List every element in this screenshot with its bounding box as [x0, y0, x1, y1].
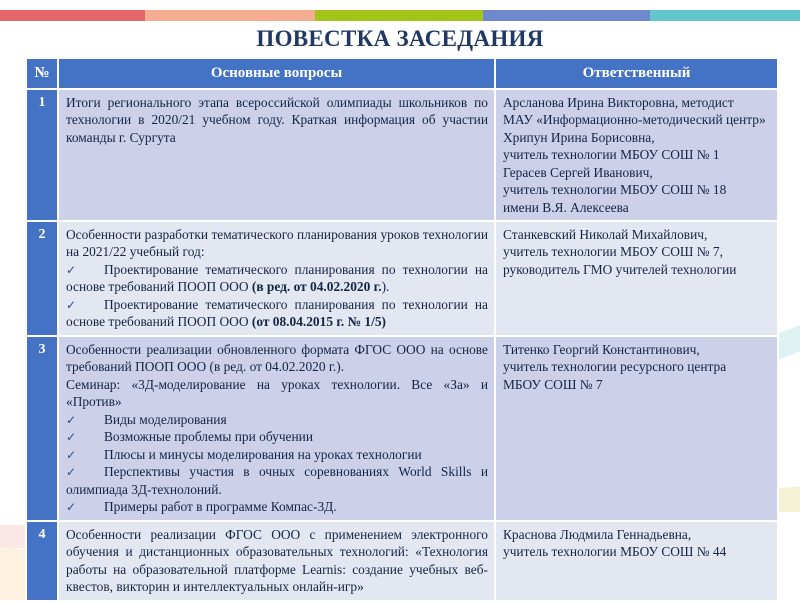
table-body: 1Итоги регионального этапа всероссийской… [27, 90, 777, 600]
row-number-cell: 3 [27, 337, 57, 520]
question-bullet-item: ✓Проектирование тематического планирован… [66, 296, 488, 331]
segment-teal [650, 10, 800, 21]
responsible-line: Титенко Георгий Константинович, [503, 341, 771, 358]
question-paragraph: Особенности реализации обновленного форм… [66, 341, 488, 376]
question-bullet-item: ✓Возможные проблемы при обучении [66, 428, 488, 446]
question-cell: Особенности разработки тематического пла… [59, 222, 494, 335]
segment-salmon [145, 10, 315, 21]
responsible-line: Краснова Людмила Геннадьевна, [503, 526, 771, 543]
question-paragraph: Итоги регионального этапа всероссийской … [66, 94, 488, 146]
responsible-cell: Титенко Георгий Константинович,учитель т… [496, 337, 777, 520]
page-title: ПОВЕСТКА ЗАСЕДАНИЯ [0, 26, 800, 52]
question-cell: Особенности реализации обновленного форм… [59, 337, 494, 520]
check-icon: ✓ [66, 413, 104, 429]
responsible-line: учитель технологии ресурсного центра [503, 358, 771, 375]
question-bullet-item: ✓Плюсы и минусы моделирования на уроках … [66, 446, 488, 464]
responsible-line: Арсланова Ирина Викторовна, методист [503, 94, 771, 111]
table-row: 4Особенности реализации ФГОС ООО с приме… [27, 522, 777, 600]
row-number-cell: 1 [27, 90, 57, 220]
responsible-line: Хрипун Ирина Борисовна, [503, 129, 771, 146]
segment-green [315, 10, 483, 21]
column-header-number: № [27, 59, 57, 88]
responsible-line: Герасев Сергей Иванович, [503, 164, 771, 181]
question-bullet-item: ✓Примеры работ в программе Компас-3Д. [66, 498, 488, 516]
check-icon: ✓ [66, 448, 104, 464]
responsible-line: МАУ «Информационно-методический центр» [503, 111, 771, 128]
responsible-line: учитель технологии МБОУ СОШ № 18 [503, 181, 771, 198]
responsible-line: руководитель ГМО учителей технологии [503, 261, 771, 278]
row-number-cell: 2 [27, 222, 57, 335]
responsible-line: учитель технологии МБОУ СОШ № 1 [503, 146, 771, 163]
table-header-row: № Основные вопросы Ответственный [27, 59, 777, 88]
responsible-cell: Краснова Людмила Геннадьевна,учитель тех… [496, 522, 777, 600]
question-bold-text: (в ред. от 04.02.2020 г. [252, 279, 382, 294]
check-icon: ✓ [66, 430, 104, 446]
question-cell: Особенности реализации ФГОС ООО с примен… [59, 522, 494, 600]
question-paragraph: Особенности реализации ФГОС ООО с примен… [66, 526, 488, 596]
responsible-cell: Арсланова Ирина Викторовна, методистМАУ … [496, 90, 777, 220]
segment-red [0, 10, 145, 21]
top-color-bar [0, 10, 800, 21]
question-cell: Итоги регионального этапа всероссийской … [59, 90, 494, 220]
responsible-line: имени В.Я. Алексеева [503, 199, 771, 216]
check-icon: ✓ [66, 465, 104, 481]
column-header-questions: Основные вопросы [59, 59, 494, 88]
agenda-table: № Основные вопросы Ответственный 1Итоги … [25, 57, 779, 602]
question-bold-text: (от 08.04.2015 г. № 1/5) [252, 314, 386, 329]
check-icon: ✓ [66, 500, 104, 516]
row-number-cell: 4 [27, 522, 57, 600]
check-icon: ✓ [66, 298, 104, 314]
table-row: 2Особенности разработки тематического пл… [27, 222, 777, 335]
responsible-line: Станкевский Николай Михайлович, [503, 226, 771, 243]
question-bullet-item: ✓Виды моделирования [66, 411, 488, 429]
question-bullet-item: ✓Проектирование тематического планирован… [66, 261, 488, 296]
table-row: 1Итоги регионального этапа всероссийской… [27, 90, 777, 220]
check-icon: ✓ [66, 263, 104, 279]
table-row: 3Особенности реализации обновленного фор… [27, 337, 777, 520]
responsible-line: МБОУ СОШ № 7 [503, 376, 771, 393]
responsible-cell: Станкевский Николай Михайлович,учитель т… [496, 222, 777, 335]
column-header-responsible: Ответственный [496, 59, 777, 88]
question-paragraph: Семинар: «3Д-моделирование на уроках тех… [66, 376, 488, 411]
responsible-line: учитель технологии МБОУ СОШ № 44 [503, 543, 771, 560]
responsible-line: учитель технологии МБОУ СОШ № 7, [503, 243, 771, 260]
segment-blue [483, 10, 650, 21]
question-bullet-item: ✓Перспективы участия в очных соревновани… [66, 463, 488, 498]
question-paragraph: Особенности разработки тематического пла… [66, 226, 488, 261]
